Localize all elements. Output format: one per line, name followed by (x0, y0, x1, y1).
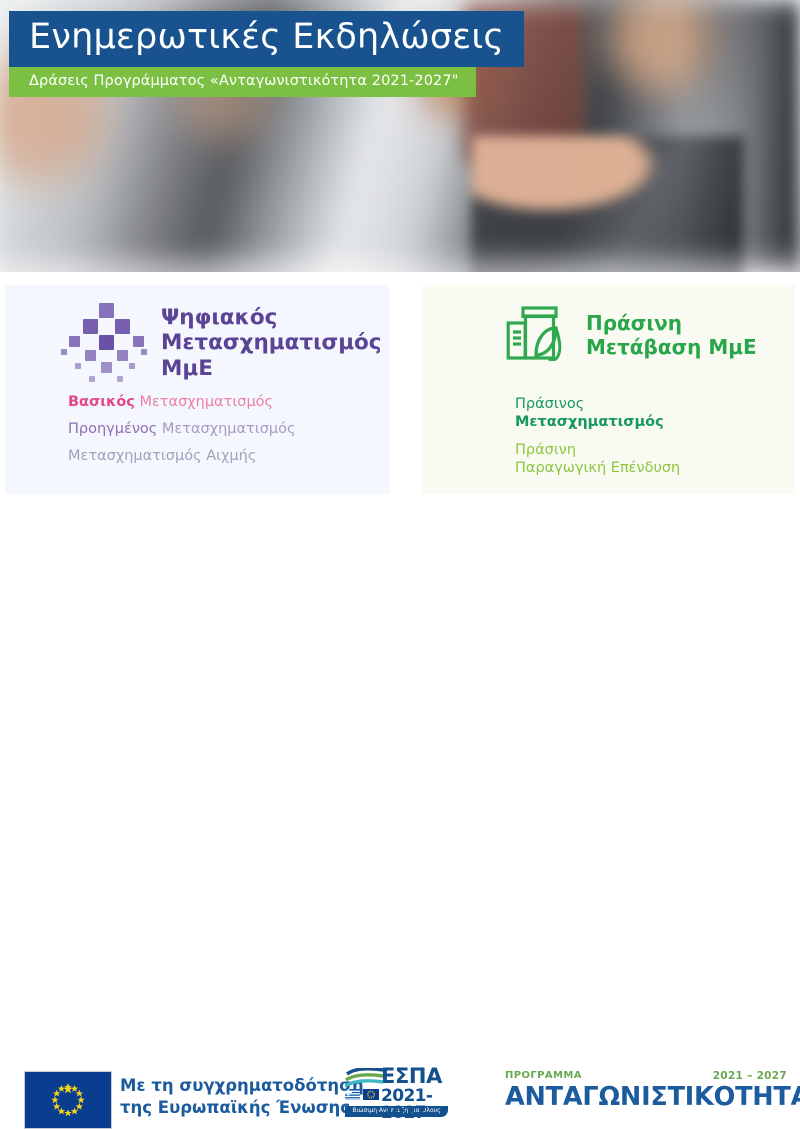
programme-name: ΑΝΤΑΓΩΝΙΣΤΙΚΟΤΗΤΑ (505, 1084, 787, 1111)
footer-logo-bar: Με τη συγχρηματοδότηση της Ευρωπαϊκής Έν… (0, 525, 800, 636)
digital-title-line-3: ΜμΕ (161, 356, 382, 381)
card-digital-transformation[interactable]: Ψηφιακός Μετασχηματισμός ΜμΕ Βασικός Μετ… (5, 285, 390, 494)
page-subtitle: Δράσεις Προγράμματος «Ανταγωνιστικότητα … (9, 67, 476, 97)
programme-label: ΠΡΟΓΡΑΜΜΑ (505, 1070, 582, 1081)
list-item[interactable]: Προηγμένος Μετασχηματισμός (68, 420, 296, 438)
programme-years: 2021 – 2027 (713, 1070, 787, 1082)
green-action-list: Πράσινος Μετασχηματισμός Πράσινη Παραγωγ… (515, 395, 680, 488)
digital-item-2-rest: Μετασχηματισμός (162, 421, 296, 437)
espa-wordmark: ΕΣΠΑ (381, 1066, 442, 1087)
green-title-line-2: Μετάβαση ΜμΕ (586, 335, 757, 359)
green-item-2-line-1: Πράσινη (515, 441, 680, 459)
green-item-1-line-2: Μετασχηματισμός (515, 413, 680, 431)
list-item[interactable]: Πράσινος Μετασχηματισμός (515, 395, 680, 431)
list-item[interactable]: Μετασχηματισμός Αιχμής (68, 447, 296, 465)
programme-logo[interactable]: ΠΡΟΓΡΑΜΜΑ 2021 – 2027 ΑΝΤΑΓΩΝΙΣΤΙΚΟΤΗΤΑ (505, 1070, 787, 1111)
espa-years: 2021-2027 (381, 1088, 450, 1122)
digital-action-list: Βασικός Μετασχηματισμός Προηγμένος Μετασ… (68, 393, 296, 474)
eu-text-line-2: της Ευρωπαϊκής Ένωσης (120, 1097, 364, 1119)
espa-flags-icon (345, 1088, 379, 1102)
programme-cards: Ψηφιακός Μετασχηματισμός ΜμΕ Βασικός Μετ… (0, 285, 800, 495)
page-title: Ενημερωτικές Εκδηλώσεις (9, 11, 524, 67)
green-item-2-line-2: Παραγωγική Επένδυση (515, 459, 680, 477)
digital-card-header: Ψηφιακός Μετασχηματισμός ΜμΕ (61, 303, 382, 383)
digital-item-1-rest: Μετασχηματισμός (139, 394, 273, 410)
espa-logo[interactable]: ΕΣΠΑ Βιώσιμη Ανάπτυξη για Όλους 2021-202… (345, 1066, 450, 1122)
eu-text-line-1: Με τη συγχρηματοδότηση (120, 1075, 364, 1097)
green-building-leaf-icon (506, 305, 572, 365)
hero-title-block: Ενημερωτικές Εκδηλώσεις Δράσεις Προγράμμ… (9, 11, 524, 97)
eu-cofunding-text: Με τη συγχρηματοδότηση της Ευρωπαϊκής Έν… (120, 1075, 364, 1120)
green-card-header: Πράσινη Μετάβαση ΜμΕ (506, 305, 757, 365)
european-union-flag-icon (24, 1071, 112, 1129)
digital-title-line-1: Ψηφιακός (161, 305, 382, 330)
digital-item-1-strong: Βασικός (68, 394, 135, 410)
digital-title-line-2: Μετασχηματισμός (161, 330, 382, 355)
card-green-transition[interactable]: Πράσινη Μετάβαση ΜμΕ Πράσινος Μετασχηματ… (422, 285, 795, 494)
green-item-1-line-1: Πράσινος (515, 395, 680, 413)
hero-banner: Ενημερωτικές Εκδηλώσεις Δράσεις Προγράμμ… (0, 0, 800, 272)
digital-item-2-strong: Προηγμένος (68, 421, 157, 437)
digital-card-title: Ψηφιακός Μετασχηματισμός ΜμΕ (161, 305, 382, 380)
list-item[interactable]: Πράσινη Παραγωγική Επένδυση (515, 441, 680, 477)
digital-pixel-logo-icon (61, 303, 147, 383)
digital-item-3-rest: Μετασχηματισμός Αιχμής (68, 448, 256, 464)
list-item[interactable]: Βασικός Μετασχηματισμός (68, 393, 296, 411)
programme-top-row: ΠΡΟΓΡΑΜΜΑ 2021 – 2027 (505, 1070, 787, 1084)
green-card-title: Πράσινη Μετάβαση ΜμΕ (586, 311, 757, 359)
green-title-line-1: Πράσινη (586, 311, 757, 335)
